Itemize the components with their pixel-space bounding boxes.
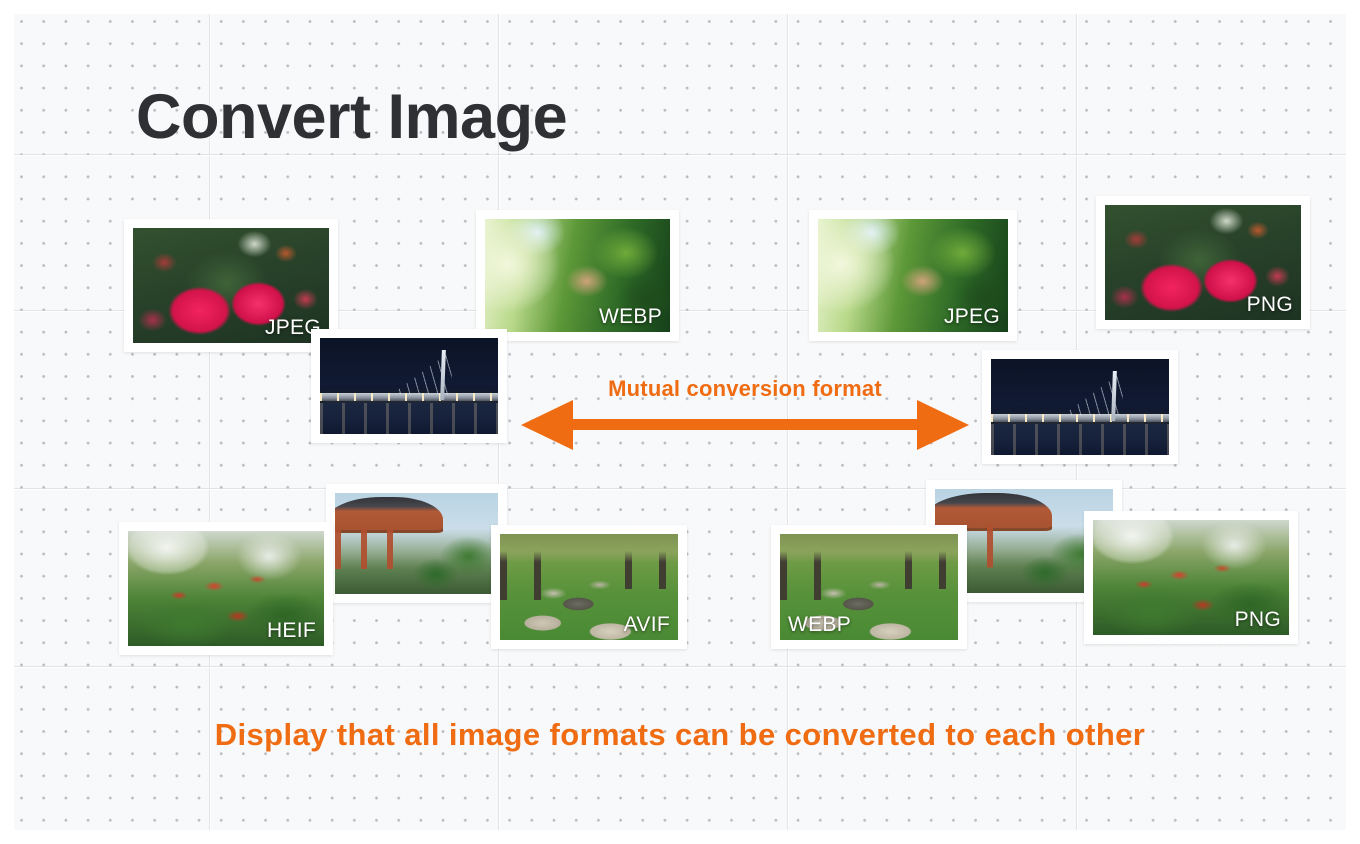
format-label: HEIF [267,618,316,644]
format-label: BMP [444,566,490,592]
image-card-jpeg[interactable]: JPEG [809,210,1017,341]
image-card-bmp[interactable]: BMP [326,484,507,603]
format-label: AVIF [624,612,670,638]
photo-red-tip-shrub: PNG [1093,520,1289,635]
image-card-avif[interactable]: AVIF [491,525,687,649]
photo-night-bridge: HEIF [991,359,1169,455]
grid-divider-horizontal [14,667,1346,668]
photo-green-foliage-sky: WEBP [485,219,670,332]
format-label: HEIF [1112,427,1161,453]
image-card-heif[interactable]: HEIF [982,350,1178,464]
grid-divider-horizontal [14,489,1346,490]
photo-stone-path-garden: WEBP [780,534,958,640]
photo-green-foliage-sky: JPEG [818,219,1008,332]
image-card-png[interactable]: PNG [1096,196,1310,329]
format-label: JPEG [944,304,1000,330]
grid-divider-horizontal [14,155,1346,156]
page-title: Convert Image [136,86,567,149]
slide-caption: Display that all image formats can be co… [14,717,1346,753]
arrow-label: Mutual conversion format [521,376,969,402]
format-label: PNG [1247,292,1293,318]
photo-pink-hibiscus-flowers: JPEG [133,228,329,343]
image-card-png[interactable]: PNG [311,329,507,443]
image-card-png[interactable]: PNG [1084,511,1298,644]
format-label: WEBP [788,612,851,638]
photo-red-tip-shrub: HEIF [128,531,324,646]
format-label: WEBP [599,304,662,330]
image-card-jpeg[interactable]: JPEG [124,219,338,352]
photo-pink-hibiscus-flowers: PNG [1105,205,1301,320]
format-label: PNG [1235,607,1281,633]
slide-canvas: Convert Image JPEGWEBPJPEGPNGPNGHEIFBMPA… [0,0,1360,844]
image-card-heif[interactable]: HEIF [119,522,333,655]
photo-red-pavilion: BMP [335,493,498,594]
format-label: PNG [444,406,490,432]
image-card-webp[interactable]: WEBP [771,525,967,649]
image-card-webp[interactable]: WEBP [476,210,679,341]
dot-grid-board: Convert Image JPEGWEBPJPEGPNGPNGHEIFBMPA… [14,14,1346,830]
photo-stone-path-garden: AVIF [500,534,678,640]
photo-night-bridge: PNG [320,338,498,434]
mutual-conversion-arrow-icon [521,400,969,450]
